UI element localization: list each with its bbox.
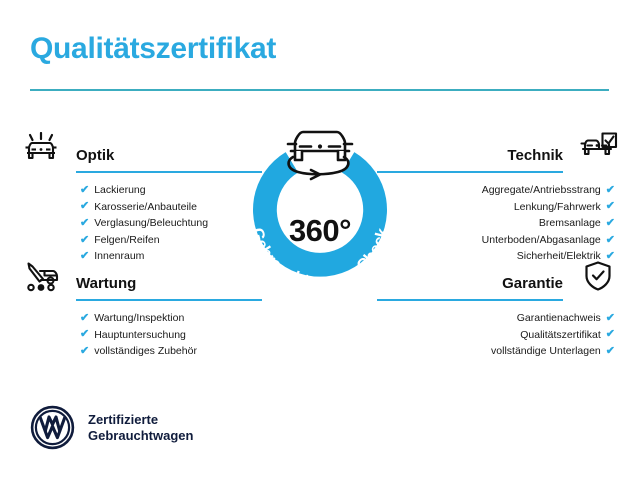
list-item-label: Karosserie/Anbauteile — [94, 199, 197, 216]
check-icon: ✔ — [80, 329, 89, 340]
list-item-label: Aggregate/Antriebsstrang — [482, 182, 601, 199]
quality-certificate-page: Qualitätszertifikat — [0, 0, 639, 479]
list-item-label: Bremsanlage — [539, 215, 601, 232]
shield-check-icon — [575, 259, 621, 293]
car-checkbox-icon — [575, 131, 621, 165]
page-title: Qualitätszertifikat — [30, 32, 276, 66]
list-item: ✔vollständiges Zubehör — [18, 343, 268, 360]
section-underline — [377, 299, 563, 301]
list-item-label: Wartung/Inspektion — [94, 310, 184, 327]
wrench-car-icon — [18, 259, 64, 293]
check-icon: ✔ — [606, 346, 615, 357]
check-icon: ✔ — [80, 313, 89, 324]
list-item: Qualitätszertifikat✔ — [371, 327, 621, 344]
list-item: Garantienachweis✔ — [371, 310, 621, 327]
list-item: ✔Hauptuntersuchung — [18, 327, 268, 344]
volkswagen-logo — [30, 405, 75, 450]
badge-degrees-label: 360° — [229, 213, 411, 249]
check-icon: ✔ — [606, 329, 615, 340]
section-underline — [76, 299, 262, 301]
check-icon: ✔ — [606, 313, 615, 324]
list-item-label: Lenkung/Fahrwerk — [514, 199, 601, 216]
check-icon: ✔ — [80, 201, 89, 212]
list-item-label: Lackierung — [94, 182, 145, 199]
list-item-label: Verglasung/Beleuchtung — [94, 215, 208, 232]
vw-certified-lockup: Zertifizierte Gebrauchtwagen — [30, 405, 193, 450]
section-title: Technik — [507, 147, 563, 165]
list-item-label: Hauptuntersuchung — [94, 327, 186, 344]
list-item-label: Qualitätszertifikat — [520, 327, 601, 344]
section-title: Wartung — [76, 275, 136, 293]
section-title: Optik — [76, 147, 114, 165]
check-icon: ✔ — [80, 218, 89, 229]
list-item-label: Unterboden/Abgasanlage — [482, 232, 601, 249]
badge-360-gebrauchtwagen-check: Gebrauchtwagen-Check — [229, 117, 411, 299]
list-item: vollständige Unterlagen✔ — [371, 343, 621, 360]
check-icon: ✔ — [80, 346, 89, 357]
list-item-label: Garantienachweis — [517, 310, 601, 327]
list-item-label: vollständiges Zubehör — [94, 343, 197, 360]
section-title: Garantie — [502, 275, 563, 293]
list-item-label: Felgen/Reifen — [94, 232, 159, 249]
list-item-label: vollständige Unterlagen — [491, 343, 601, 360]
vw-text-line2: Gebrauchtwagen — [88, 428, 193, 443]
check-icon: ✔ — [80, 235, 89, 246]
section-list-garantie: Garantienachweis✔ Qualitätszertifikat✔ v… — [371, 310, 621, 360]
car-shine-icon — [18, 131, 64, 165]
vw-text-line1: Zertifizierte — [88, 412, 158, 427]
vw-certified-text: Zertifizierte Gebrauchtwagen — [88, 412, 193, 444]
title-divider — [30, 89, 609, 91]
section-list-wartung: ✔Wartung/Inspektion ✔Hauptuntersuchung ✔… — [18, 310, 268, 360]
check-icon: ✔ — [80, 185, 89, 196]
check-icon: ✔ — [606, 235, 615, 246]
check-icon: ✔ — [606, 201, 615, 212]
check-icon: ✔ — [606, 218, 615, 229]
check-icon: ✔ — [606, 185, 615, 196]
badge-arc: Gebrauchtwagen-Check — [229, 117, 411, 299]
list-item: ✔Wartung/Inspektion — [18, 310, 268, 327]
